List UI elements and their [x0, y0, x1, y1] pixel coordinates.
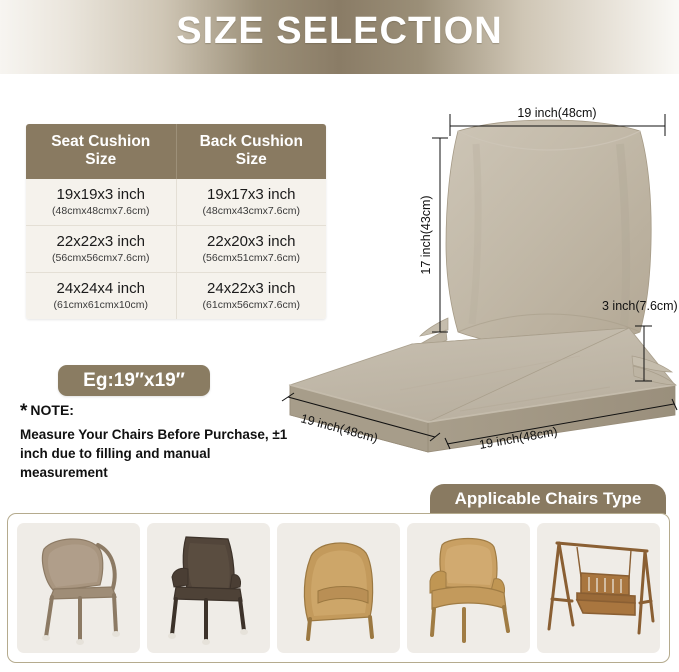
applicable-chairs-panel [7, 513, 670, 663]
column-header-seat-line2: Size [30, 151, 172, 169]
note-heading-label: NOTE: [30, 402, 74, 418]
example-size-badge: Eg:19″x19″ [58, 365, 210, 396]
seat-size-cm-3: (61cmx61cmx10cm) [29, 299, 173, 311]
seat-size-inch-3: 24x24x4 inch [29, 280, 173, 298]
chair-thumbnail-natural-wicker-armchair[interactable] [407, 523, 530, 653]
cell-seat-size-1: 19x19x3 inch (48cmx48cmx7.6cm) [26, 179, 176, 225]
dimension-back-height [432, 138, 448, 332]
seat-size-cm-1: (48cmx48cmx7.6cm) [29, 205, 173, 217]
chair-thumbnail-tan-rattan-tub-chair[interactable] [277, 523, 400, 653]
dark-brown-wicker-high-back-chair-icon [168, 537, 248, 645]
note-body-text: Measure Your Chairs Before Purchase, ±1 … [20, 425, 295, 482]
chair-thumbnail-wooden-porch-swing[interactable] [537, 523, 660, 653]
seat-size-cm-2: (56cmx56cmx7.6cm) [29, 252, 173, 264]
chair-thumbnail-dark-brown-wicker-high-back-chair[interactable] [147, 523, 270, 653]
cushion-dimension-diagram: 19 inch(48cm) 17 inch(43cm) 3 inch(7.6cm… [280, 104, 679, 470]
dimension-label-seat-thickness: 3 inch(7.6cm) [602, 299, 678, 313]
dimension-label-back-width: 19 inch(48cm) [517, 106, 596, 120]
chair-thumbnail-round-back-wicker-stacking-chair[interactable] [17, 523, 140, 653]
page-title: SIZE SELECTION [0, 10, 679, 53]
tan-rattan-tub-chair-icon [304, 543, 372, 639]
column-header-seat-line1: Seat Cushion [30, 133, 172, 151]
seat-size-inch-1: 19x19x3 inch [29, 186, 173, 204]
dimension-label-back-height: 17 inch(43cm) [419, 195, 433, 274]
natural-wicker-armchair-icon [430, 539, 508, 642]
wooden-porch-swing-seat [577, 547, 635, 615]
cell-seat-size-2: 22x22x3 inch (56cmx56cmx7.6cm) [26, 226, 176, 272]
seat-size-inch-2: 22x22x3 inch [29, 233, 173, 251]
column-header-seat-cushion: Seat Cushion Size [26, 124, 176, 179]
applicable-chairs-tab: Applicable Chairs Type [430, 484, 666, 514]
note-block: *NOTE: Measure Your Chairs Before Purcha… [20, 402, 295, 482]
cell-seat-size-3: 24x24x4 inch (61cmx61cmx10cm) [26, 273, 176, 319]
asterisk-icon: * [20, 401, 27, 422]
note-heading: *NOTE: [20, 402, 295, 421]
round-back-wicker-stacking-chair-icon [42, 539, 120, 645]
